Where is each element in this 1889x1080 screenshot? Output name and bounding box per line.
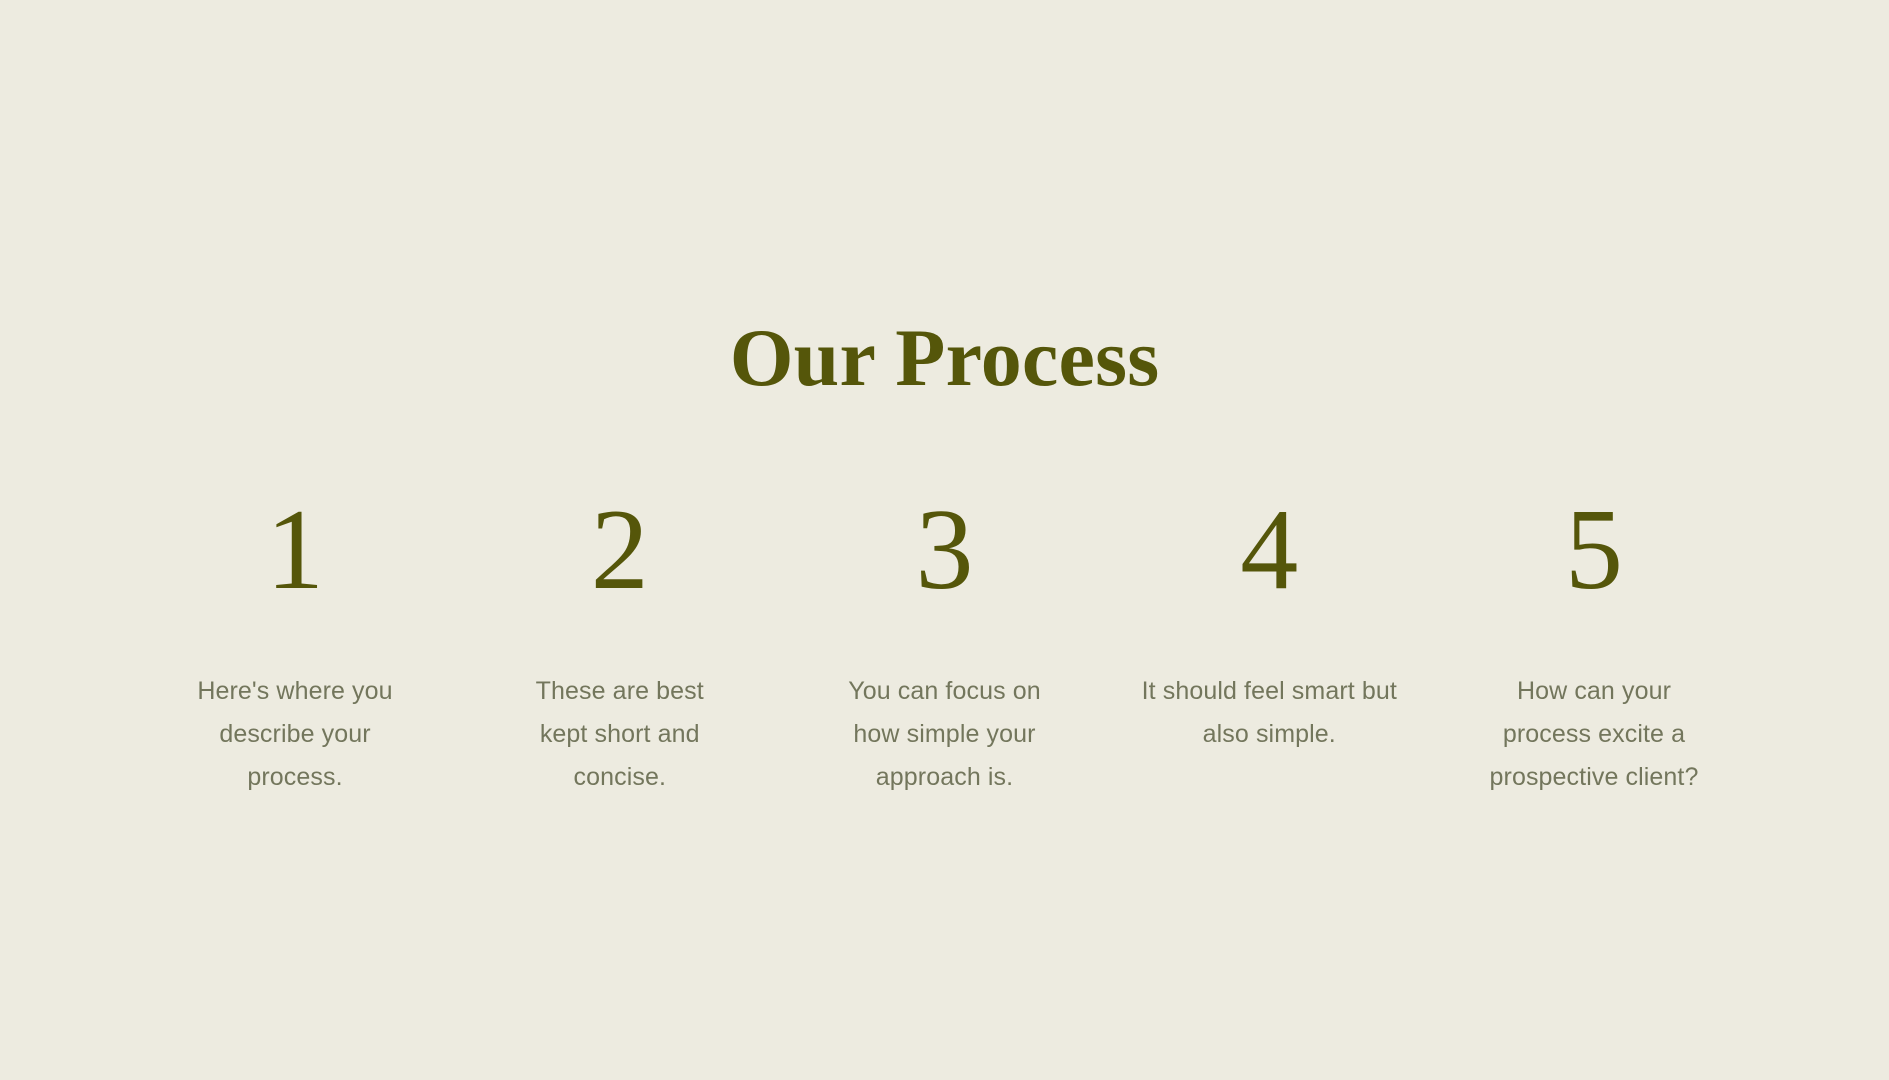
step-description-3: You can focus on how simple your approac… [827,670,1062,799]
process-step-5: 5 How can your process excite a prospect… [1433,492,1755,824]
step-description-5: How can your process excite a prospectiv… [1470,670,1718,799]
process-section: Our Process 1 Here's where you describe … [0,0,1889,1080]
process-steps-list: 1 Here's where you describe your process… [134,492,1755,824]
step-description-4: It should feel smart but also simple. [1137,670,1402,756]
step-number-4: 4 [1240,492,1298,604]
step-number-3: 3 [916,492,974,604]
step-description-1: Here's where you describe your process. [175,670,415,799]
step-number-1: 1 [266,492,324,604]
step-description-2: These are best kept short and concise. [515,670,725,799]
page-title: Our Process [0,317,1889,399]
step-number-5: 5 [1565,492,1623,604]
process-step-4: 4 It should feel smart but also simple. [1108,492,1430,781]
step-number-2: 2 [591,492,649,604]
process-step-1: 1 Here's where you describe your process… [134,492,456,824]
process-step-3: 3 You can focus on how simple your appro… [784,492,1106,824]
process-step-2: 2 These are best kept short and concise. [459,492,781,824]
